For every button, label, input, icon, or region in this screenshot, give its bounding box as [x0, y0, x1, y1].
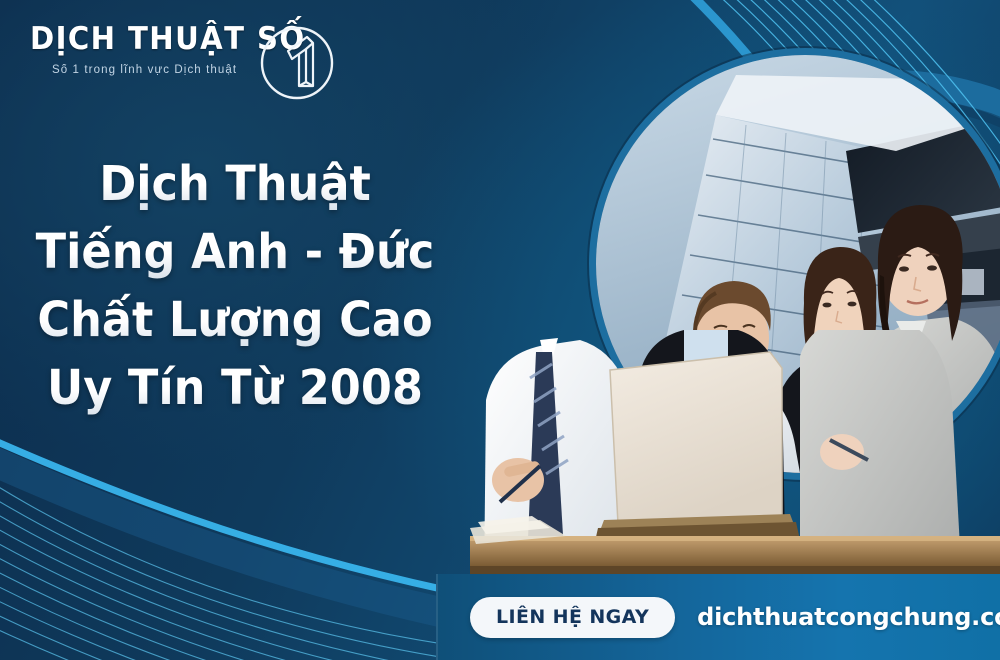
promo-banner: DỊCH THUẬT SỐ Số 1 trong lĩnh vực Dịch t…	[0, 0, 1000, 660]
headline-line-1: Dịch Thuật	[16, 150, 453, 218]
headline-line-3: Chất Lượng Cao	[16, 286, 453, 354]
headline-block: Dịch Thuật Tiếng Anh - Đức Chất Lượng Ca…	[0, 150, 470, 423]
headline-line-2: Tiếng Anh - Đức	[16, 218, 453, 286]
contact-now-button[interactable]: LIÊN HỆ NGAY	[470, 597, 675, 638]
number-one-emblem-icon	[258, 24, 336, 102]
cta-bar: LIÊN HỆ NGAY dichthuatcongchung.com	[436, 574, 1000, 660]
hero-photo-desk-area	[470, 330, 1000, 585]
brand-logo[interactable]: DỊCH THUẬT SỐ Số 1 trong lĩnh vực Dịch t…	[30, 24, 320, 104]
headline-line-4: Uy Tín Từ 2008	[16, 354, 453, 422]
website-url[interactable]: dichthuatcongchung.com	[697, 603, 1000, 631]
